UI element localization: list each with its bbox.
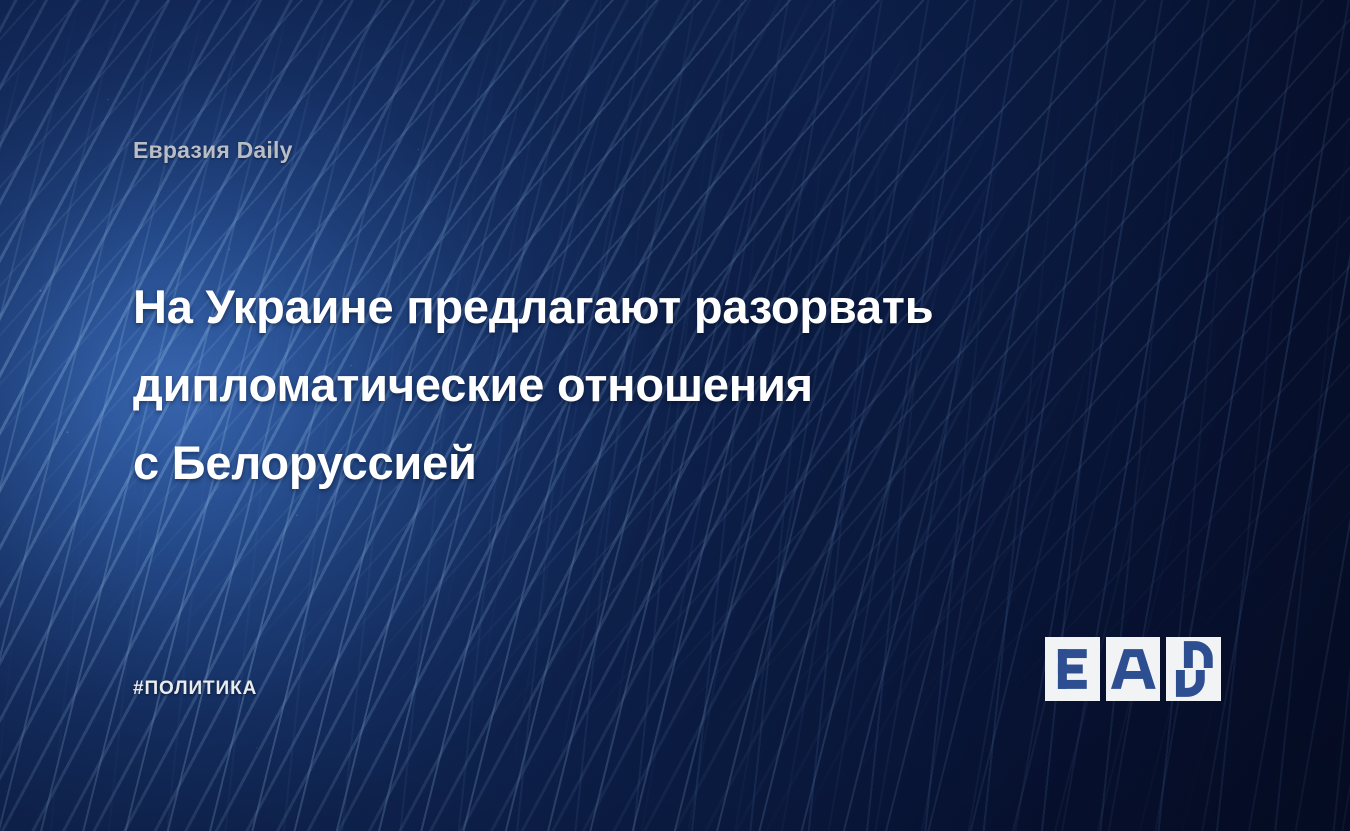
card-content: Евразия Daily На Украине предлагают разо… [0, 0, 1350, 831]
logo-tile-e-icon [1045, 637, 1100, 701]
category-hashtag[interactable]: #ПОЛИТИКА [133, 678, 257, 700]
headline-line-1: На Украине предлагают разорвать [133, 268, 1133, 346]
headline-line-3: с Белоруссией [133, 424, 1133, 502]
logo-tile-a-icon [1106, 637, 1161, 701]
news-card: Евразия Daily На Украине предлагают разо… [0, 0, 1350, 831]
brand-name: Евразия Daily [133, 137, 293, 164]
eadaily-logo[interactable] [1045, 637, 1221, 701]
headline-line-2: дипломатические отношения [133, 346, 1133, 424]
page-title: На Украине предлагают разорвать дипломат… [133, 268, 1133, 502]
logo-tile-d-split-icon [1166, 637, 1221, 701]
